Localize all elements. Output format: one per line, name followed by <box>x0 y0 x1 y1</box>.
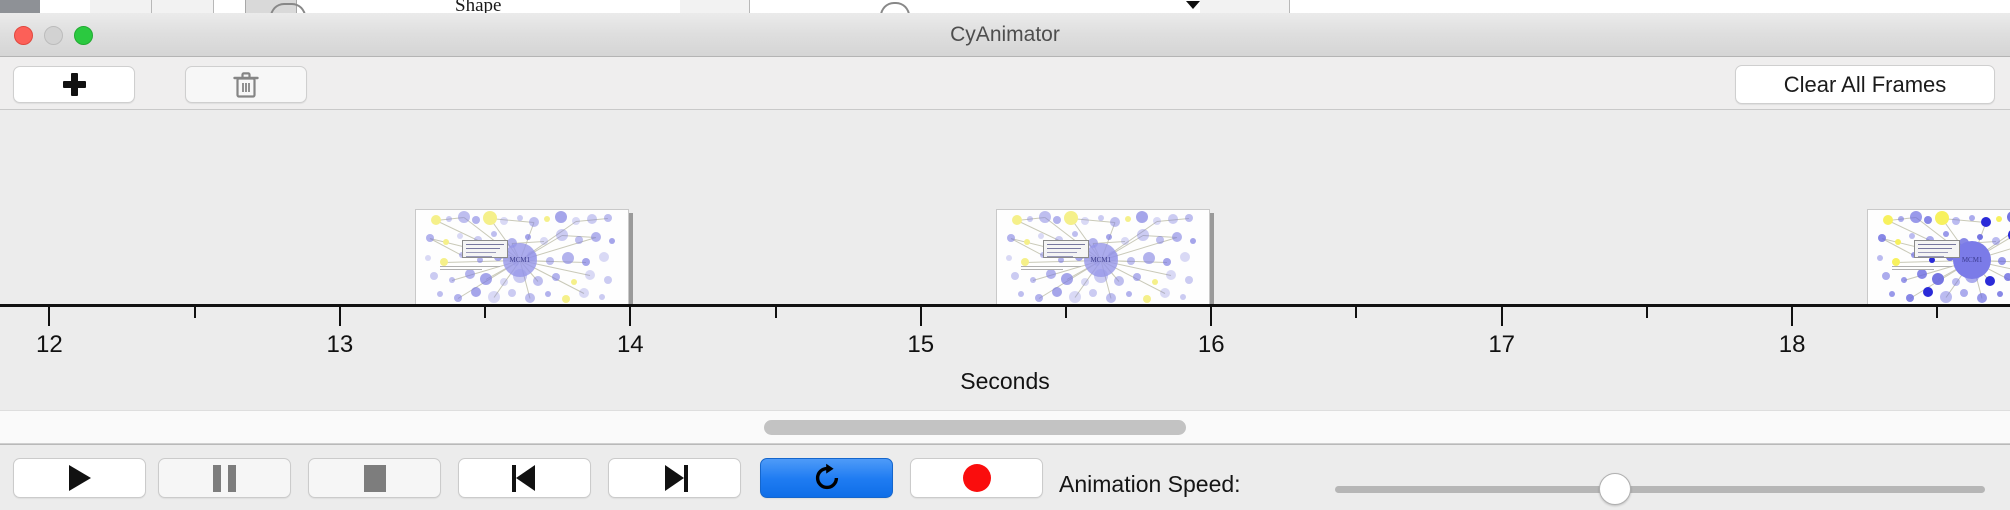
bg-window-arc <box>880 2 910 13</box>
network-node <box>1081 217 1089 225</box>
network-node <box>1166 270 1176 280</box>
network-node <box>443 239 449 245</box>
network-node <box>1923 287 1933 297</box>
network-node <box>1064 211 1078 225</box>
network-node <box>1038 233 1044 239</box>
network-node <box>500 217 508 225</box>
network-node <box>572 217 580 225</box>
pause-icon <box>213 465 236 492</box>
network-node <box>604 214 612 222</box>
frame-thumbnail[interactable]: MCM1 <box>1867 209 2010 304</box>
trash-icon <box>233 71 259 99</box>
network-node <box>1052 287 1062 297</box>
network-node <box>1098 215 1104 221</box>
bg-window-tab <box>90 0 152 13</box>
network-node <box>582 258 590 266</box>
axis-tick-label: 17 <box>1488 331 1515 359</box>
network-node <box>1143 252 1155 264</box>
network-node <box>556 229 568 241</box>
tooltip-text-line <box>1047 256 1073 257</box>
network-node <box>1081 278 1089 286</box>
network-node <box>1185 276 1193 284</box>
network-tooltip <box>462 240 508 258</box>
network-node <box>529 217 539 227</box>
network-node <box>552 273 560 281</box>
network-node <box>458 211 470 223</box>
network-node <box>562 295 570 303</box>
network-node <box>1018 291 1024 297</box>
axis-tick-major <box>339 307 341 326</box>
playback-controls: Animation Speed: <box>0 444 2010 510</box>
network-node <box>579 288 589 298</box>
network-node <box>599 294 605 300</box>
network-node <box>1977 234 1983 240</box>
timeline-axis: 12131415161718 Seconds <box>0 304 2010 410</box>
network-node <box>1892 258 1900 266</box>
timeline-scrollbar[interactable] <box>0 410 2010 444</box>
skip-to-end-button[interactable] <box>608 458 741 498</box>
network-node <box>1901 277 1907 283</box>
network-node <box>1030 277 1036 283</box>
axis-tick-label: 16 <box>1198 331 1225 359</box>
network-node <box>1127 257 1135 265</box>
timeline-panel[interactable]: MCM1 MCM1 MCM1 <box>0 110 2010 304</box>
network-caption-line <box>1892 269 1934 270</box>
loop-icon <box>812 463 842 493</box>
tooltip-text-line <box>1047 244 1085 245</box>
network-node <box>1053 216 1061 224</box>
network-node <box>1021 258 1029 266</box>
network-hub-node: MCM1 <box>1084 243 1118 277</box>
slider-thumb[interactable] <box>1599 473 1631 505</box>
network-node <box>1136 211 1148 223</box>
network-node <box>1172 232 1182 242</box>
axis-tick-minor <box>775 307 777 318</box>
network-node <box>609 238 615 244</box>
network-node <box>1940 291 1952 303</box>
stop-icon <box>364 465 386 492</box>
record-icon <box>963 464 991 492</box>
axis-tick-minor <box>1936 307 1938 318</box>
axis-tick-minor <box>484 307 486 318</box>
network-caption-line <box>440 269 482 270</box>
axis-tick-major <box>920 307 922 326</box>
bg-window-arc <box>270 3 306 13</box>
network-node <box>1011 272 1019 280</box>
tooltip-text-line <box>1918 256 1944 257</box>
network-node <box>591 232 601 242</box>
network-node <box>1889 291 1895 297</box>
network-node <box>471 287 481 297</box>
network-node <box>430 272 438 280</box>
skip-back-icon <box>512 465 538 492</box>
network-node <box>562 252 574 264</box>
plus-icon <box>63 73 86 96</box>
network-node <box>454 294 462 302</box>
tooltip-text-line <box>1047 252 1077 253</box>
axis-tick-label: 14 <box>617 331 644 359</box>
network-node <box>483 211 497 225</box>
network-node <box>571 279 577 285</box>
network-node <box>1006 255 1012 261</box>
network-node <box>1190 238 1196 244</box>
network-node <box>508 289 516 297</box>
network-canvas: MCM1 <box>415 209 629 304</box>
axis-tick-minor <box>1355 307 1357 318</box>
skip-to-start-button[interactable] <box>458 458 591 498</box>
tooltip-text-line <box>466 256 492 257</box>
network-hub-node: MCM1 <box>503 243 537 277</box>
network-node <box>1007 234 1015 242</box>
bg-window-sidebar <box>0 0 40 13</box>
network-node <box>425 255 431 261</box>
network-node <box>1089 289 1097 297</box>
network-node <box>1952 217 1960 225</box>
tooltip-text-line <box>1918 252 1948 253</box>
network-node <box>1180 294 1186 300</box>
tooltip-text-line <box>466 252 496 253</box>
network-node <box>472 216 480 224</box>
stop-button[interactable] <box>308 458 441 498</box>
network-node <box>431 215 441 225</box>
network-node <box>1156 236 1164 244</box>
network-node <box>545 291 551 297</box>
network-node <box>1906 294 1914 302</box>
axis-line <box>0 304 2010 307</box>
network-node <box>449 277 455 283</box>
network-node <box>525 293 535 303</box>
loop-button[interactable] <box>760 458 893 498</box>
record-button[interactable] <box>910 458 1043 498</box>
network-node <box>1143 295 1151 303</box>
network-node <box>1039 211 1051 223</box>
network-node <box>1133 273 1141 281</box>
network-tooltip <box>1914 240 1960 258</box>
network-node <box>587 214 597 224</box>
network-node <box>491 231 497 237</box>
tooltip-text-line <box>1047 248 1081 249</box>
bg-window-tab <box>1200 0 1290 13</box>
network-node <box>1163 258 1171 266</box>
network-node <box>1114 276 1124 286</box>
network-node <box>1998 257 2006 265</box>
network-node <box>1909 233 1915 239</box>
network-canvas: MCM1 <box>1867 209 2010 304</box>
network-node <box>465 269 475 279</box>
network-node <box>1935 211 1949 225</box>
network-caption-line <box>1021 269 1063 270</box>
axis-tick-label: 13 <box>326 331 353 359</box>
network-caption-line <box>1892 266 1952 267</box>
play-button[interactable] <box>13 458 146 498</box>
network-node <box>2004 273 2010 281</box>
network-canvas: MCM1 <box>996 209 1210 304</box>
network-node <box>440 258 448 266</box>
axis-tick-label: 18 <box>1779 331 1806 359</box>
axis-title: Seconds <box>0 368 2010 395</box>
network-node <box>1952 278 1960 286</box>
network-node <box>480 273 492 285</box>
axis-tick-minor <box>1065 307 1067 318</box>
network-node <box>1997 291 2003 297</box>
network-node <box>1168 214 1178 224</box>
axis-tick-major <box>629 307 631 326</box>
axis-tick-minor <box>1646 307 1648 318</box>
background-window-strip: Shape <box>0 0 2010 13</box>
network-node <box>457 233 463 239</box>
pause-button[interactable] <box>158 458 291 498</box>
network-node <box>1024 239 1030 245</box>
network-node <box>1027 216 1033 222</box>
network-node <box>1883 215 1893 225</box>
add-frame-button[interactable] <box>13 66 135 103</box>
network-node <box>1072 231 1078 237</box>
frame-thumbnail[interactable]: MCM1 <box>996 209 1214 304</box>
network-node <box>1943 231 1949 237</box>
network-node <box>1061 273 1073 285</box>
network-node <box>540 237 548 245</box>
network-node <box>585 270 595 280</box>
tooltip-text-line <box>466 248 500 249</box>
network-node <box>1106 293 1116 303</box>
tooltip-text-line <box>1918 248 1952 249</box>
axis-tick-major <box>1501 307 1503 326</box>
axis-tick-label: 12 <box>36 331 63 359</box>
network-node <box>1125 216 1131 222</box>
network-node <box>604 276 612 284</box>
network-node <box>1977 293 1987 303</box>
network-node <box>1153 217 1161 225</box>
network-node <box>1895 239 1901 245</box>
bg-window-caret-icon <box>1186 1 1200 9</box>
animation-speed-label: Animation Speed: <box>1059 471 1241 498</box>
play-icon <box>69 465 91 491</box>
skip-forward-icon <box>662 465 688 492</box>
network-node <box>1035 294 1043 302</box>
bg-window-tab <box>152 0 214 13</box>
bg-window-label: Shape <box>455 0 501 13</box>
network-node <box>1917 269 1927 279</box>
network-node <box>500 278 508 286</box>
network-node <box>1160 288 1170 298</box>
network-node <box>1126 291 1132 297</box>
network-node <box>525 234 531 240</box>
network-node <box>1877 255 1883 261</box>
network-caption-line <box>1021 266 1081 267</box>
animation-speed-slider[interactable] <box>1335 486 1985 493</box>
network-node <box>1106 234 1112 240</box>
window-title: CyAnimator <box>0 13 2010 57</box>
axis-tick-minor <box>194 307 196 318</box>
network-node <box>575 236 583 244</box>
network-node <box>1981 217 1991 227</box>
tooltip-text-line <box>466 244 504 245</box>
clear-all-frames-button[interactable]: Clear All Frames <box>1735 65 1995 104</box>
slider-track <box>1335 486 1985 493</box>
network-node <box>599 252 609 262</box>
title-bar: CyAnimator <box>0 13 2010 57</box>
tooltip-text-line <box>1918 244 1956 245</box>
network-node <box>426 234 434 242</box>
network-node <box>488 291 500 303</box>
network-node <box>546 257 554 265</box>
axis-tick-label: 15 <box>907 331 934 359</box>
network-node <box>1898 216 1904 222</box>
axis-tick-major <box>1791 307 1793 326</box>
network-node <box>1960 289 1968 297</box>
network-node <box>437 291 443 297</box>
network-node <box>1180 252 1190 262</box>
axis-tick-major <box>48 307 50 326</box>
network-node <box>1924 216 1932 224</box>
network-node <box>1121 237 1129 245</box>
delete-frame-button[interactable] <box>185 66 307 103</box>
network-caption-line <box>440 266 500 267</box>
network-node <box>1882 272 1890 280</box>
network-node <box>446 216 452 222</box>
bg-window-tab <box>680 0 750 13</box>
toolbar: Clear All Frames <box>0 57 2010 110</box>
network-node <box>1152 279 1158 285</box>
network-node <box>544 216 550 222</box>
network-node <box>1996 216 2002 222</box>
network-node <box>1110 217 1120 227</box>
network-node <box>1185 214 1193 222</box>
network-node <box>517 215 523 221</box>
network-node <box>533 276 543 286</box>
network-node <box>555 211 567 223</box>
network-node <box>1069 291 1081 303</box>
network-node <box>1932 273 1944 285</box>
network-node <box>1012 215 1022 225</box>
scrollbar-thumb[interactable] <box>764 420 1186 435</box>
frame-thumbnail[interactable]: MCM1 <box>415 209 633 304</box>
network-node <box>1046 269 1056 279</box>
network-node <box>1985 276 1995 286</box>
network-node <box>1137 229 1149 241</box>
axis-tick-major <box>1210 307 1212 326</box>
network-tooltip <box>1043 240 1089 258</box>
